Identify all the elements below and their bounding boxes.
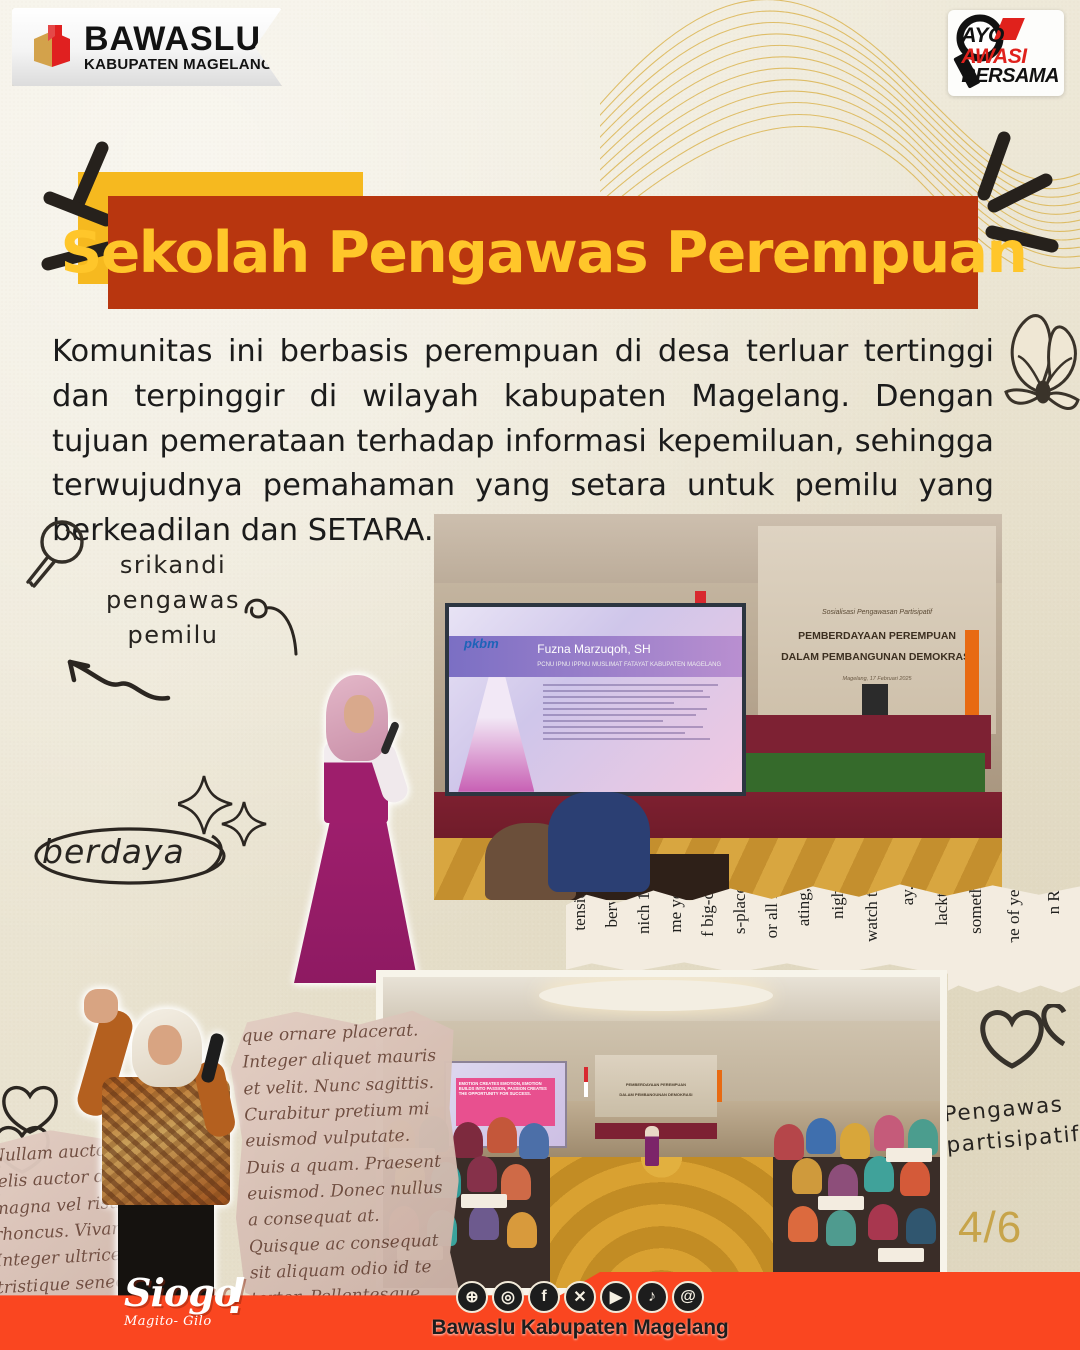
ayo-line-2: AWASI: [961, 47, 1059, 68]
photo2-backdrop-line2: DALAM PEMBANGUNAN DEMOKRASI: [595, 1092, 718, 1097]
cutout2-hand: [84, 989, 118, 1023]
photo2-audience-right: [762, 1114, 940, 1288]
cutout-speaker-batik: [60, 975, 278, 1305]
photo1-projector-screen: pkbm Fuzna Marzuqoh, SH PCNU IPNU IPPNU …: [445, 603, 746, 796]
photo1-backdrop-date: Magelang, 17 Februari 2025: [758, 676, 997, 682]
news-frag: ne of yea: [1004, 882, 1024, 944]
annotation-srikandi-line3: pemilu: [88, 618, 258, 653]
instagram-icon[interactable]: ◎: [492, 1281, 524, 1313]
x-twitter-icon[interactable]: ✕: [564, 1281, 596, 1313]
photo2-backdrop-banner: PEMBERDAYAAN PEREMPUAN DALAM PEMBANGUNAN…: [595, 1055, 718, 1117]
facebook-icon[interactable]: f: [528, 1281, 560, 1313]
photo-seminar-stage: Sosialisasi Pengawasan Partisipatif PEMB…: [434, 514, 1002, 900]
ayo-line-1: AYO: [961, 26, 1059, 47]
bawaslu-logo: BAWASLU KABUPATEN MAGELANG: [12, 8, 282, 86]
photo1-backdrop-line2: DALAM PEMBANGUNAN DEMOKRASI: [758, 651, 997, 663]
cutout-speaker-purple: [290, 665, 422, 983]
news-frag: f big-c: [698, 892, 718, 937]
photo1-slide-speaker-name: Fuzna Marzuqoh, SH: [537, 642, 650, 656]
ayo-line-3: BERSAMA: [961, 67, 1059, 87]
social-icon-row: ⊕ ◎ f ✕ ▶ ♪ @: [430, 1281, 730, 1313]
siogo-logo: Siogo ! Magito- Gilo: [124, 1274, 264, 1348]
curved-arrow-icon: [48, 648, 178, 704]
annotation-srikandi: srikandi pengawas pemilu: [88, 548, 258, 652]
photo2-speaker: [645, 1126, 659, 1166]
butterfly-icon: [1000, 296, 1080, 428]
heart-icons-right: [980, 1004, 1080, 1076]
annotation-pengawas-partisipatif: Pengawas partisipatif: [943, 1090, 1073, 1162]
youtube-icon[interactable]: ▶: [600, 1281, 632, 1313]
website-icon[interactable]: ⊕: [456, 1281, 488, 1313]
tiktok-icon[interactable]: ♪: [636, 1281, 668, 1313]
photo-ballroom-audience: EMOTION CREATES EMOTION, EMOTION BUILDS …: [383, 977, 940, 1288]
annotation-berdaya: berdaya: [42, 832, 185, 871]
sparkle-icon: [178, 772, 274, 848]
photo1-attendee-a: [548, 792, 650, 892]
photo1-slide-logo: pkbm: [464, 636, 499, 651]
siogo-exclamation: !: [228, 1270, 245, 1322]
title-bar: Sekolah Pengawas Perempuan: [108, 196, 978, 309]
photo2-ceiling-oval: [539, 980, 773, 1011]
news-frag: or all i: [762, 894, 782, 938]
photo1-slide-figure: [458, 677, 534, 792]
photo1-backdrop-kicker: Sosialisasi Pengawasan Partisipatif: [758, 609, 997, 616]
photo1-backdrop-line1: PEMBERDAYAAN PEREMPUAN: [758, 630, 997, 642]
threads-icon[interactable]: @: [672, 1281, 704, 1313]
photo1-slide-bullets: [543, 684, 725, 780]
photo1-plants: [746, 753, 985, 792]
bawaslu-wordmark: BAWASLU: [84, 22, 273, 56]
ayo-awasi-bersama-logo: AYO AWASI BERSAMA: [948, 10, 1064, 96]
photo2-indonesian-flag: [584, 1067, 588, 1097]
bawaslu-subtitle: KABUPATEN MAGELANG: [84, 57, 273, 72]
news-frag: n Rat: [1044, 878, 1064, 914]
photo1-slide-speaker-org: PCNU IPNU IPPNU MUSLIMAT FATAYAT KABUPAT…: [537, 662, 721, 668]
annotation-srikandi-line1: srikandi: [88, 548, 258, 583]
annotation-srikandi-line2: pengawas: [88, 583, 258, 618]
news-frag: s-place: [730, 886, 750, 934]
account-handle: Bawaslu Kabupaten Magelang: [430, 1316, 730, 1340]
photo2-backdrop-line1: PEMBERDAYAAN PEREMPUAN: [595, 1082, 718, 1087]
social-footer: ⊕ ◎ f ✕ ▶ ♪ @ Bawaslu Kabupaten Magelang: [430, 1281, 730, 1340]
photo2-carpet: [550, 1157, 773, 1288]
page-title: Sekolah Pengawas Perempuan: [60, 220, 1026, 286]
cutout1-face: [344, 695, 374, 733]
news-frag: nich 1: [634, 892, 654, 934]
photo2-orange-flag: [717, 1070, 722, 1102]
news-frag: ating,: [794, 888, 814, 926]
cutout2-face: [148, 1025, 182, 1065]
poster-canvas: BAWASLU KABUPATEN MAGELANG AYO AWASI BER…: [0, 0, 1080, 1350]
banner-corner-notch: [920, 1272, 1080, 1324]
ballot-box-icon: [30, 23, 74, 71]
news-frag: ay.: [898, 886, 918, 905]
page-number: 4/6: [958, 1203, 1022, 1253]
